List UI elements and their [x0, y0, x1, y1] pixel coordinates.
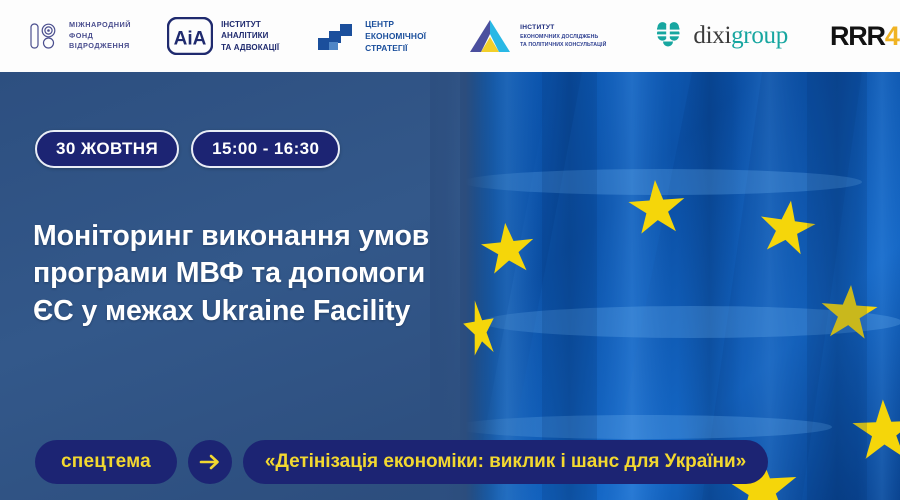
- rrr4u-wordmark: RRR4U: [830, 21, 900, 52]
- ier-logo-text: ЕКОНОМІЧНИХ ДОСЛІДЖЕНЬ ТА ПОЛІТИЧНИХ КОН…: [520, 33, 606, 49]
- svg-text:AiA: AiA: [174, 29, 207, 50]
- rrr4u-logo[interactable]: RRR4U: [830, 21, 900, 52]
- aia-logo-text: Інститут аналітики та адвокації: [221, 19, 279, 54]
- event-banner: МІЖНАРОДНИЙ ФОНД ВІДРОДЖЕННЯ AiA Інститу…: [0, 0, 900, 500]
- international-renaissance-foundation-logo[interactable]: МІЖНАРОДНИЙ ФОНД ВІДРОДЖЕННЯ: [28, 19, 131, 53]
- rrr-word-b: 4U: [885, 21, 900, 51]
- arrow-right-icon: [198, 453, 222, 471]
- ier-triangle-icon: [468, 18, 512, 54]
- event-title: Моніторинг виконання умов програми МВФ т…: [33, 218, 473, 330]
- institute-economic-research-logo[interactable]: ІНСТИТУТ ЕКОНОМІЧНИХ ДОСЛІДЖЕНЬ ТА ПОЛІТ…: [468, 18, 606, 54]
- institute-analytics-advocacy-logo[interactable]: AiA Інститут аналітики та адвокації: [167, 17, 279, 55]
- event-title-line-1: Моніторинг виконання умов: [33, 218, 473, 255]
- arrow-right-button[interactable]: [188, 440, 232, 484]
- event-meta-badges: 30 ЖОВТНЯ 15:00 - 16:30: [35, 130, 340, 168]
- dixi-mark-icon: [654, 22, 684, 50]
- event-date-badge[interactable]: 30 ЖОВТНЯ: [35, 130, 179, 168]
- special-topic-strip: спецтема «Детінізація економіки: виклик …: [0, 424, 900, 500]
- aia-mark-icon: AiA: [167, 17, 213, 55]
- centre-economic-strategy-logo[interactable]: ЦЕНТР ЕКОНОМІЧНОЇ СТРАТЕГІЇ: [317, 18, 426, 55]
- dixi-group-logo[interactable]: dixigroup: [654, 22, 788, 50]
- ces-mark-icon: [317, 19, 357, 53]
- dixi-word-b: group: [731, 22, 788, 49]
- special-topic-label[interactable]: спецтема: [35, 440, 177, 484]
- partner-logo-bar: МІЖНАРОДНИЙ ФОНД ВІДРОДЖЕННЯ AiA Інститу…: [0, 0, 900, 72]
- event-title-line-3: ЄС у межах Ukraine Facility: [33, 293, 473, 330]
- dixi-word-a: dixi: [693, 22, 731, 49]
- rrr-word-a: RRR: [830, 21, 885, 51]
- special-topic-title[interactable]: «Детінізація економіки: виклик і шанс дл…: [243, 440, 768, 484]
- irf-mark-icon: [28, 19, 62, 53]
- dixi-group-wordmark: dixigroup: [693, 22, 788, 50]
- ces-logo-text: ЦЕНТР ЕКОНОМІЧНОЇ СТРАТЕГІЇ: [365, 18, 426, 55]
- event-time-badge[interactable]: 15:00 - 16:30: [191, 130, 340, 168]
- ier-logo-title: ІНСТИТУТ: [520, 23, 606, 33]
- irf-logo-text: МІЖНАРОДНИЙ ФОНД ВІДРОДЖЕННЯ: [69, 20, 131, 52]
- event-title-line-2: програми МВФ та допомоги: [33, 255, 473, 292]
